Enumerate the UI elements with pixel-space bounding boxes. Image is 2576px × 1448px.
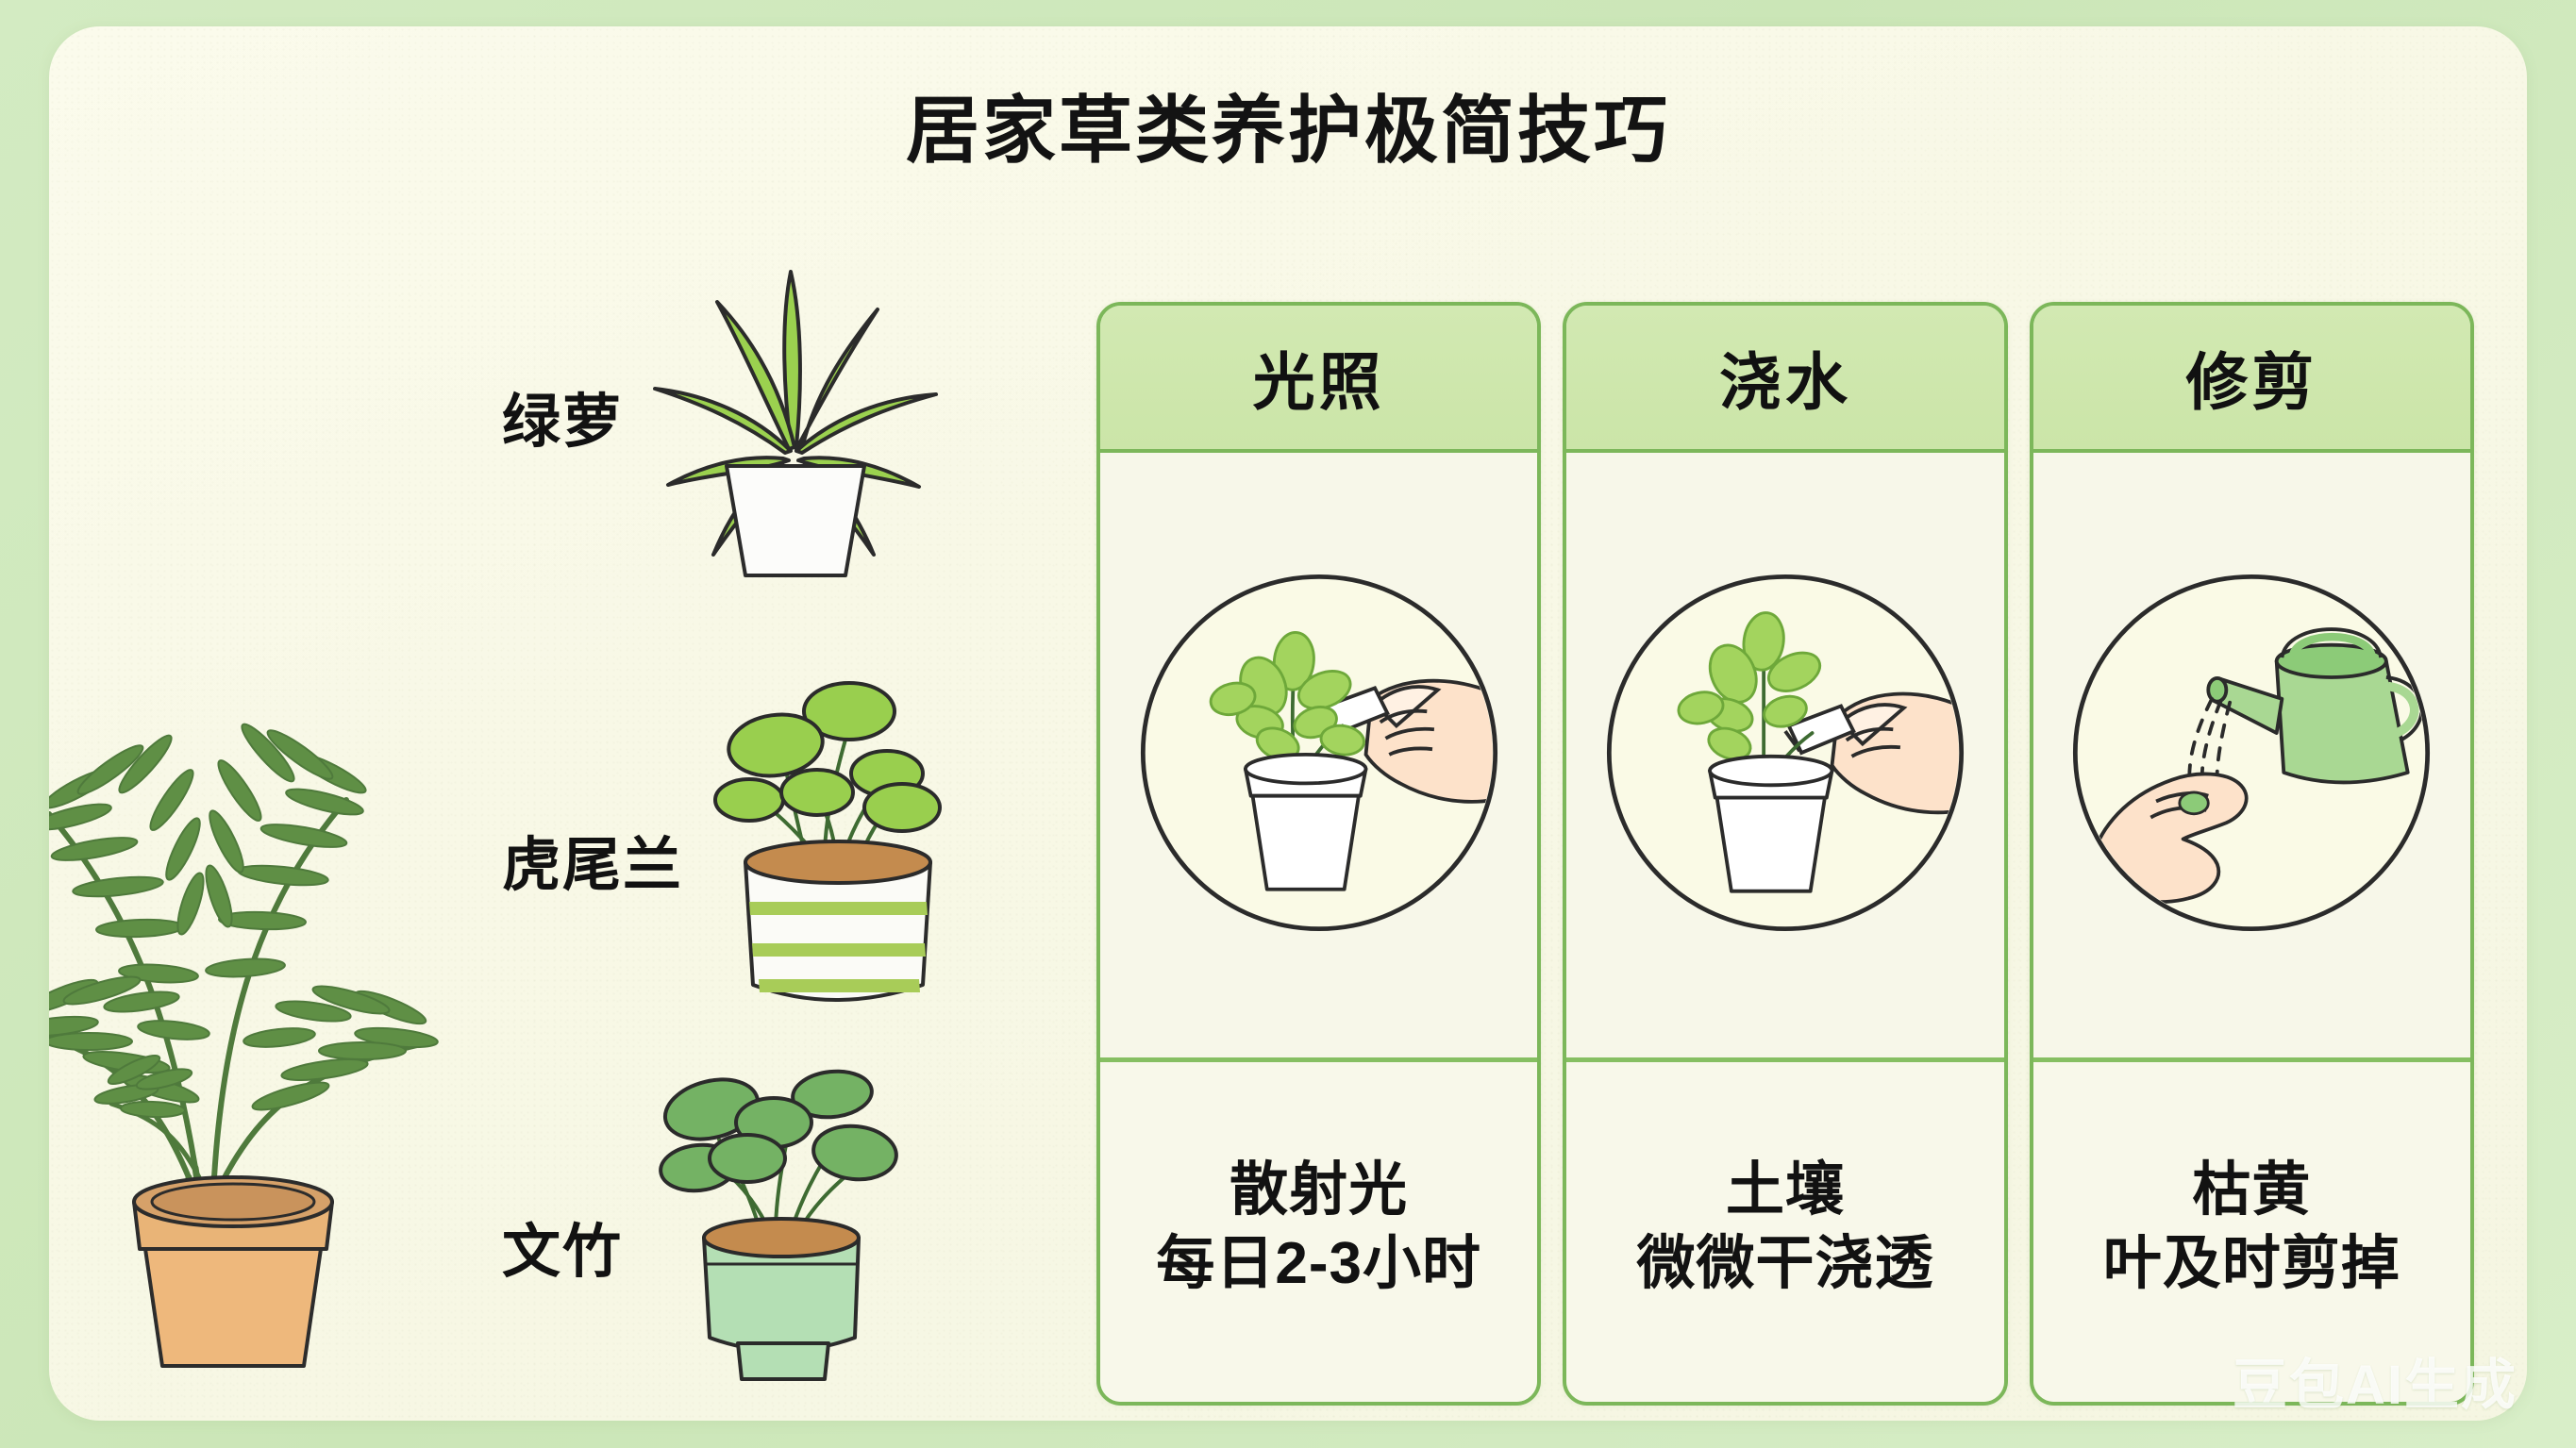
card-header-label: 光照 <box>1253 332 1385 423</box>
card-body-line-1: 土壤 <box>1636 1154 1933 1227</box>
hand-tool-potted-plant-icon <box>1597 564 1974 946</box>
page-title: 居家草类养护极简技巧 <box>49 72 2527 177</box>
card-body-text: 枯黄 叶及时剪掉 <box>2103 1154 2400 1301</box>
card-body: 土壤 微微干浇透 <box>1566 1062 2003 1402</box>
plant-row: 虎尾兰 <box>502 668 1013 1050</box>
card-body-text: 散射光 每日2-3小时 <box>1156 1154 1481 1301</box>
card-header: 浇水 <box>1566 306 2003 453</box>
card-header-label: 修剪 <box>2185 332 2317 423</box>
plant-label: 绿萝 <box>502 374 623 458</box>
care-card[interactable]: 浇水 <box>1563 302 2007 1406</box>
hand-tool-potted-plant-icon <box>1130 564 1508 946</box>
content-panel: 居家草类养护极简技巧 <box>49 26 2527 1421</box>
watering-can-hand-icon <box>2063 564 2440 946</box>
pilea-striped-pot-icon <box>693 668 1013 1050</box>
card-illustration <box>2033 453 2470 1062</box>
card-illustration <box>1566 453 2003 1062</box>
card-body-line-1: 枯黄 <box>2103 1154 2400 1227</box>
card-header: 修剪 <box>2033 306 2470 453</box>
card-body-line-2: 叶及时剪掉 <box>2103 1227 2400 1301</box>
plant-label: 虎尾兰 <box>502 817 683 902</box>
card-body-text: 土壤 微微干浇透 <box>1636 1154 1933 1301</box>
care-card[interactable]: 光照 <box>1096 302 1541 1406</box>
card-illustration <box>1100 453 1537 1062</box>
plant-row: 绿萝 <box>502 243 951 588</box>
plant-row: 文竹 <box>502 1055 953 1421</box>
card-body-line-2: 每日2-3小时 <box>1156 1227 1481 1301</box>
plant-label: 文竹 <box>502 1204 623 1289</box>
card-body-line-2: 微微干浇透 <box>1636 1227 1933 1301</box>
card-header-label: 浇水 <box>1719 332 1851 423</box>
palm-plant-terracotta-pot-icon <box>49 517 455 1385</box>
card-body: 枯黄 叶及时剪掉 <box>2033 1062 2470 1402</box>
infographic-poster: 居家草类养护极简技巧 <box>0 0 2576 1448</box>
card-body-line-1: 散射光 <box>1156 1154 1481 1227</box>
pilea-mint-pot-icon <box>632 1055 953 1421</box>
care-card[interactable]: 修剪 <box>2030 302 2474 1406</box>
care-tips-card-group: 光照 <box>1096 302 2474 1406</box>
spider-plant-white-pot-icon <box>640 243 951 588</box>
card-body: 散射光 每日2-3小时 <box>1100 1062 1537 1402</box>
card-header: 光照 <box>1100 306 1537 453</box>
